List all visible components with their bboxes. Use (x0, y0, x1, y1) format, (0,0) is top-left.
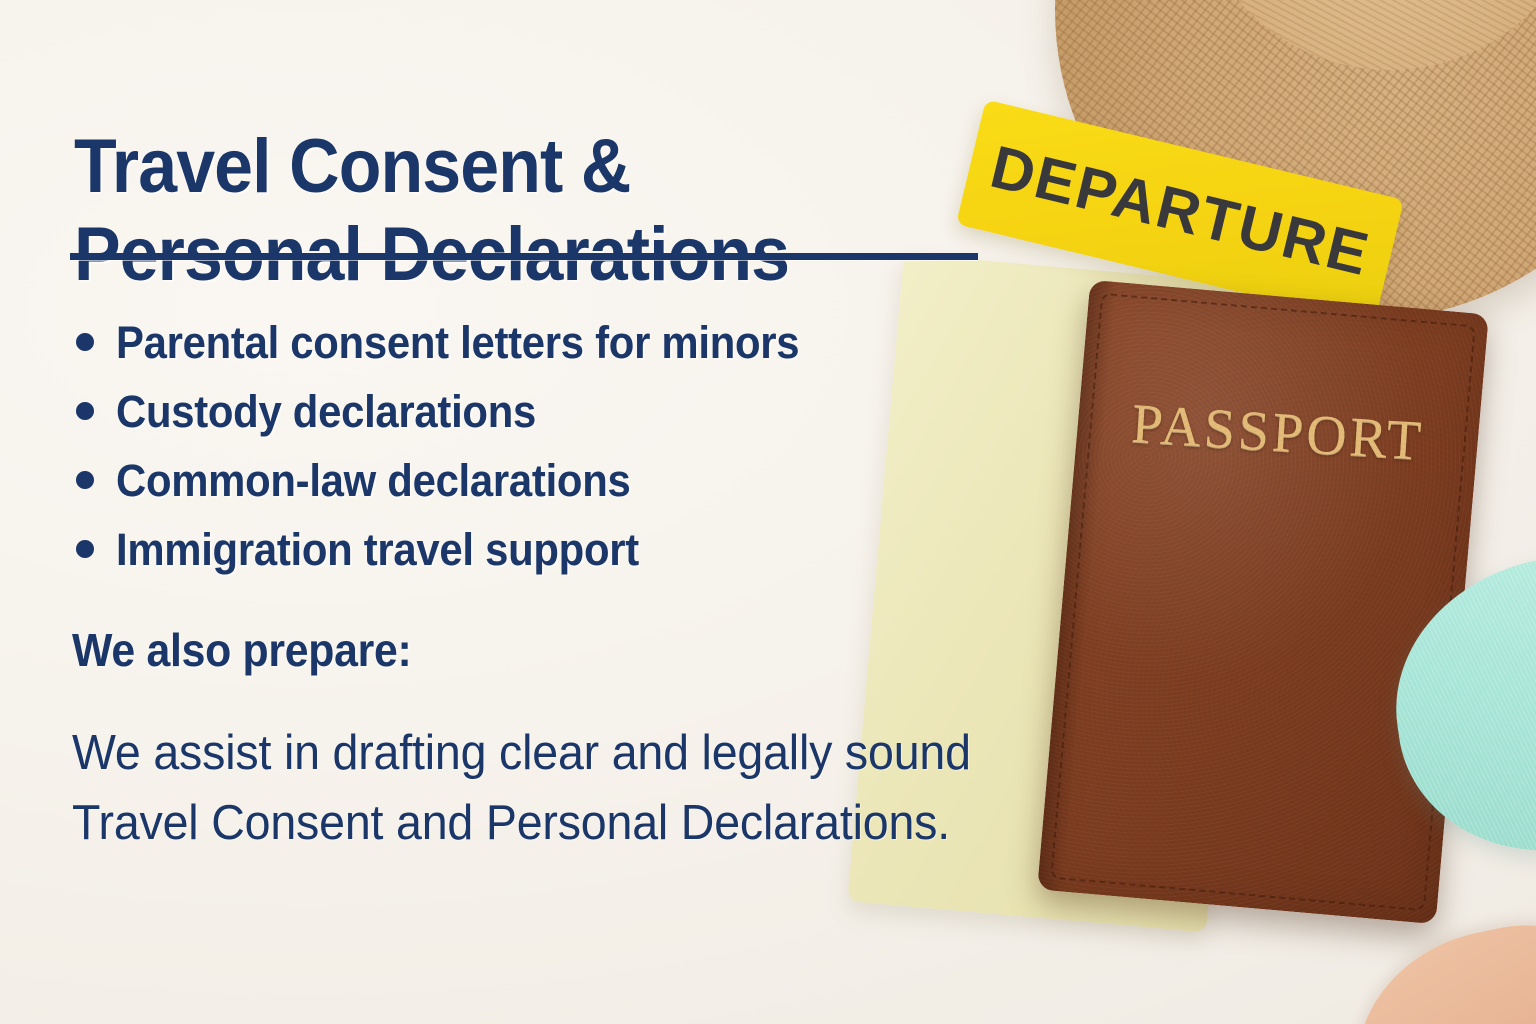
list-item: Common-law declarations (70, 446, 1030, 515)
services-bullet-list: Parental consent letters for minors Cust… (70, 308, 1030, 584)
description-line-2: Travel Consent and Personal Declarations… (72, 788, 1136, 858)
promo-banner: DEPARTURE PASSPORT Travel Consent & Pers… (0, 0, 1536, 1024)
list-item: Parental consent letters for minors (70, 308, 1030, 377)
bullet-dot-icon (76, 540, 94, 558)
list-item: Custody declarations (70, 377, 1030, 446)
description-line-1: We assist in drafting clear and legally … (72, 718, 1136, 788)
list-item-label: Custody declarations (116, 377, 536, 446)
page-title-line-1: Travel Consent & (74, 124, 630, 209)
bullet-dot-icon (76, 471, 94, 489)
bullet-dot-icon (76, 402, 94, 420)
list-item-label: Parental consent letters for minors (116, 308, 799, 377)
bullet-dot-icon (76, 333, 94, 351)
section-subheading: We also prepare: (72, 622, 411, 678)
text-layer: Travel Consent & Personal Declarations P… (0, 0, 1536, 1024)
title-underline-rule (70, 253, 978, 260)
description-paragraph: We assist in drafting clear and legally … (72, 718, 1192, 858)
list-item-label: Immigration travel support (116, 515, 639, 584)
page-title: Travel Consent & Personal Declarations (74, 123, 930, 299)
list-item: Immigration travel support (70, 515, 1030, 584)
list-item-label: Common-law declarations (116, 446, 630, 515)
